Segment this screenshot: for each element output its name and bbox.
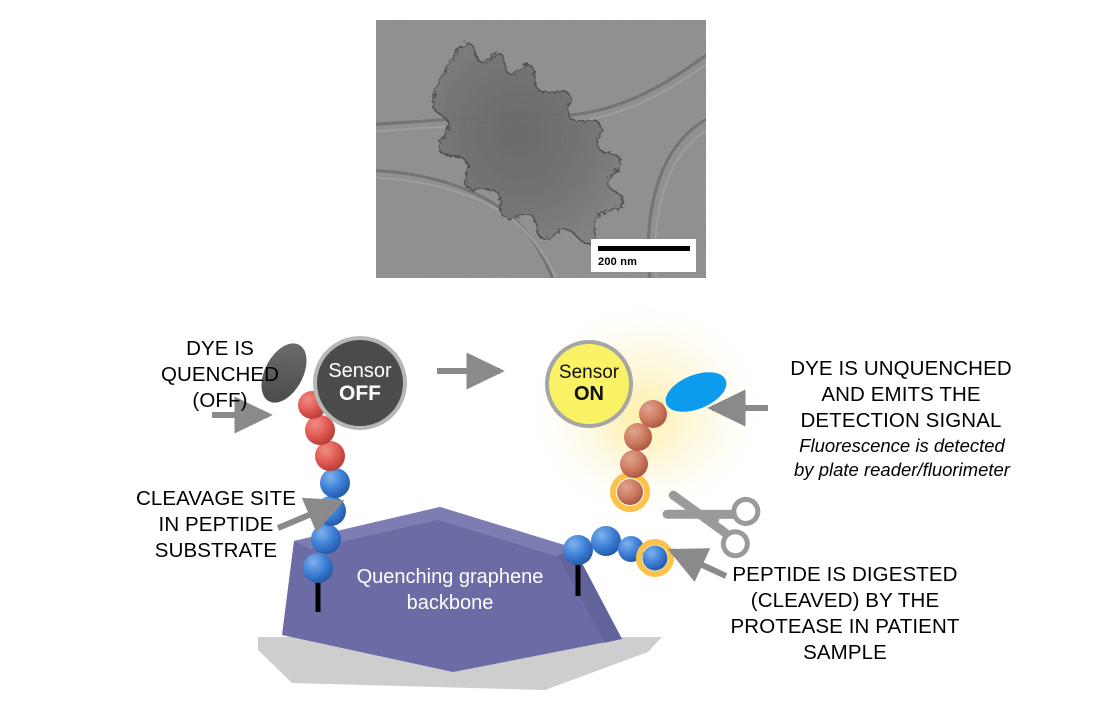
label-peptide-digested: PEPTIDE IS DIGESTED (CLEAVED) BY THE PRO… — [700, 562, 990, 666]
peptide-bead-blue — [563, 535, 593, 565]
sensor-on-badge[interactable]: Sensor ON — [545, 340, 633, 428]
sensor-off-label: Sensor — [328, 361, 391, 382]
peptide-bead-blue — [591, 526, 621, 556]
peptide-bead-salmon — [639, 400, 667, 428]
label-fluorescence-note: Fluorescence is detected by plate reader… — [768, 434, 1036, 482]
label-dye-quenched: DYE IS QUENCHED (OFF) — [120, 336, 320, 414]
peptide-bead-salmon — [620, 450, 648, 478]
peptide-bead-salmon — [624, 423, 652, 451]
figure-canvas: 200 nm — [0, 0, 1116, 720]
sensor-off-badge[interactable]: Sensor OFF — [313, 336, 407, 430]
peptide-bead-red — [315, 441, 345, 471]
sensor-off-state: OFF — [339, 382, 381, 405]
sensor-on-label: Sensor — [559, 363, 619, 383]
sensor-on-state: ON — [574, 383, 604, 405]
label-graphene-backbone: Quenching graphene backbone — [344, 564, 556, 616]
peptide-bead-blue-cleaved-end — [643, 546, 668, 571]
label-cleavage-site: CLEAVAGE SITE IN PEPTIDE SUBSTRATE — [96, 486, 336, 564]
peptide-bead-salmon-cleaved-end — [617, 479, 643, 505]
label-dye-unquenched: DYE IS UNQUENCHED AND EMITS THE DETECTIO… — [772, 356, 1030, 434]
